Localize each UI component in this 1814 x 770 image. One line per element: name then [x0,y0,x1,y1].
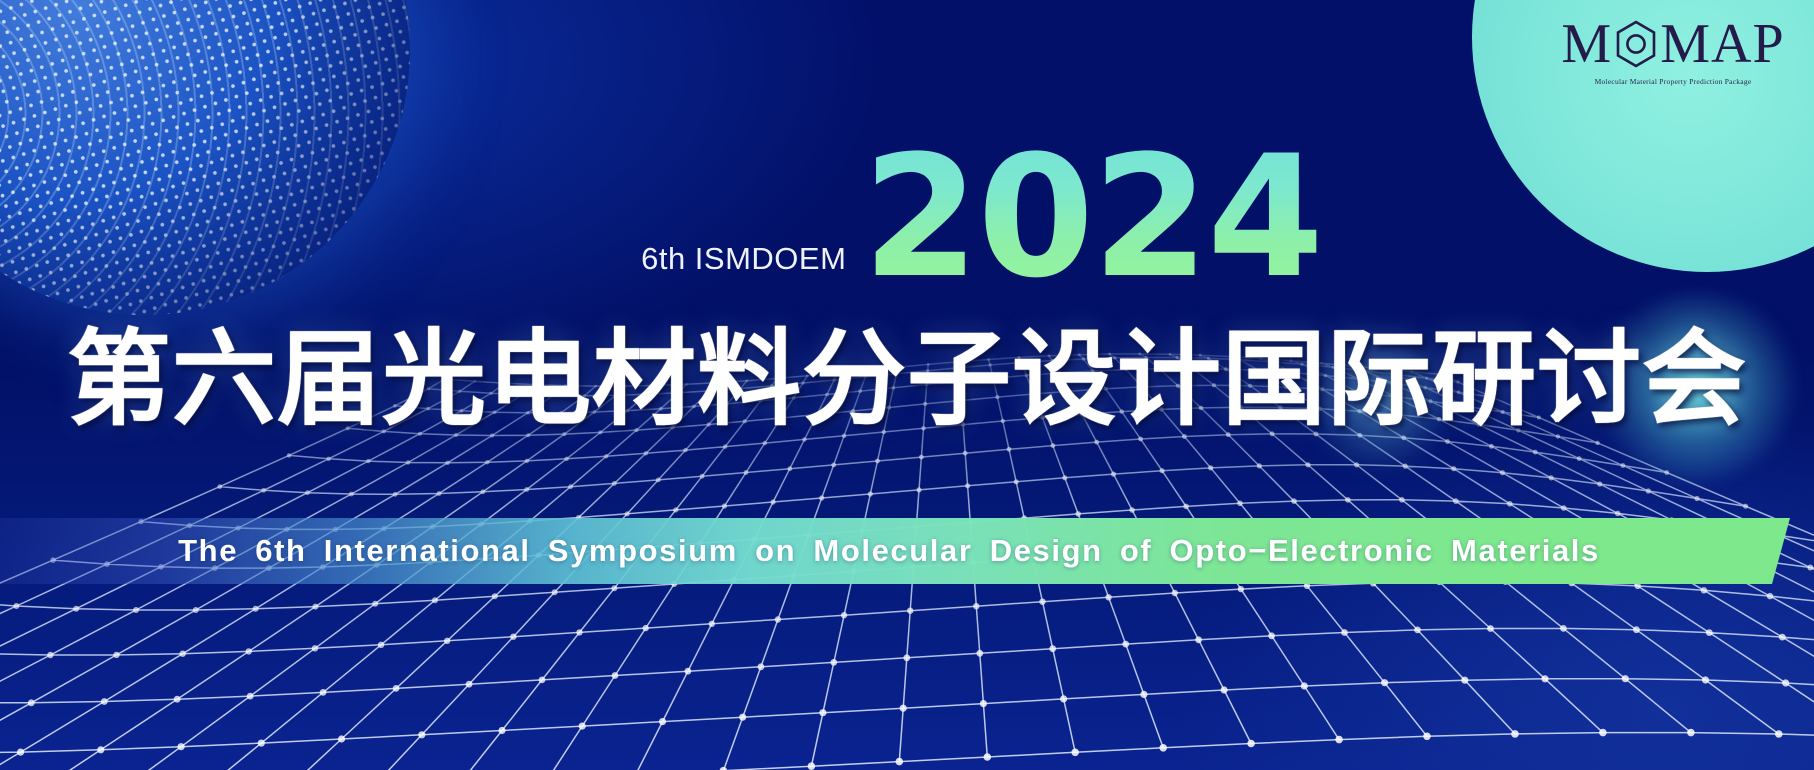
year-label: 2024 [862,140,1322,295]
year-heading-row: 6th ISMDOEM 2024 [0,140,1814,295]
english-title-bar: The 6th International Symposium on Molec… [0,518,1790,584]
momap-wordmark: M MAP [1550,16,1796,72]
momap-subtitle: Molecular Material Property Prediction P… [1550,77,1796,86]
hexagon-icon [1614,19,1658,69]
momap-logo[interactable]: M MAP Molecular Material Property Predic… [1550,16,1796,86]
momap-letter-m1: M [1561,16,1612,72]
event-abbreviation: 6th ISMDOEM [641,241,846,295]
chinese-title: 第六届光电材料分子设计国际研讨会 [0,324,1814,434]
english-title: The 6th International Symposium on Molec… [178,533,1612,569]
momap-letters-map: MAP [1660,16,1784,72]
conference-banner: M MAP Molecular Material Property Predic… [0,0,1814,770]
